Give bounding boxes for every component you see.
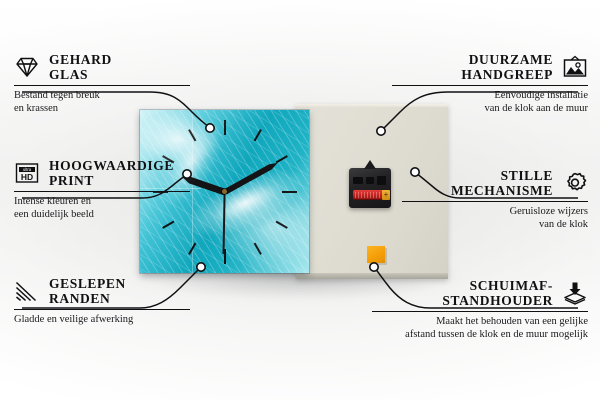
svg-text:HD: HD	[21, 172, 33, 182]
feature-hoogwaardige-print[interactable]: ultra HD HOOGWAARDIGE PRINT Intense kleu…	[14, 158, 190, 221]
feature-description: Eenvoudige installatie van de klok aan d…	[392, 90, 588, 115]
infographic-canvas: +	[0, 0, 600, 400]
feature-title: GEHARD GLAS	[49, 52, 112, 82]
connector-node-handgreep	[377, 127, 385, 135]
beveled-edges-icon	[14, 279, 40, 303]
feature-title: STILLE MECHANISME	[451, 168, 553, 198]
feature-duurzame-handgreep[interactable]: DUURZAME HANDGREEP Eenvoudige installati…	[392, 52, 588, 115]
gear-icon	[562, 171, 588, 195]
ultra-hd-icon: ultra HD	[14, 161, 40, 185]
feature-description: Intense kleuren en een duidelijk beeld	[14, 196, 190, 221]
feature-title: SCHUIMAF- STANDHOUDER	[442, 278, 553, 308]
connector-node-standhouder	[370, 263, 378, 271]
feature-title: HOOGWAARDIGE PRINT	[49, 158, 174, 188]
feature-underline	[402, 201, 588, 202]
feature-underline	[14, 85, 190, 86]
feature-schuimafstandhouder[interactable]: SCHUIMAF- STANDHOUDER Maakt het behouden…	[372, 278, 588, 341]
feature-underline	[372, 311, 588, 312]
connector-node-gehard-glas	[206, 124, 214, 132]
feature-description: Bestand tegen breuk en krassen	[14, 90, 190, 115]
diamond-icon	[14, 55, 40, 79]
connector-node-randen	[197, 263, 205, 271]
feature-stille-mechanisme[interactable]: STILLE MECHANISME Geruisloze wijzers van…	[402, 168, 588, 231]
feature-underline	[14, 191, 190, 192]
feature-geslepen-randen[interactable]: GESLEPEN RANDEN Gladde en veilige afwerk…	[14, 276, 190, 327]
press-down-pad-icon	[562, 281, 588, 305]
feature-underline	[14, 309, 190, 310]
feature-gehard-glas[interactable]: GEHARD GLAS Bestand tegen breuk en krass…	[14, 52, 190, 115]
feature-title: GESLEPEN RANDEN	[49, 276, 126, 306]
feature-description: Gladde en veilige afwerking	[14, 314, 190, 327]
feature-description: Maakt het behouden van een gelijke afsta…	[372, 316, 588, 341]
picture-frame-hanger-icon	[562, 55, 588, 79]
feature-description: Geruisloze wijzers van de klok	[402, 206, 588, 231]
feature-underline	[392, 85, 588, 86]
feature-title: DUURZAME HANDGREEP	[461, 52, 553, 82]
